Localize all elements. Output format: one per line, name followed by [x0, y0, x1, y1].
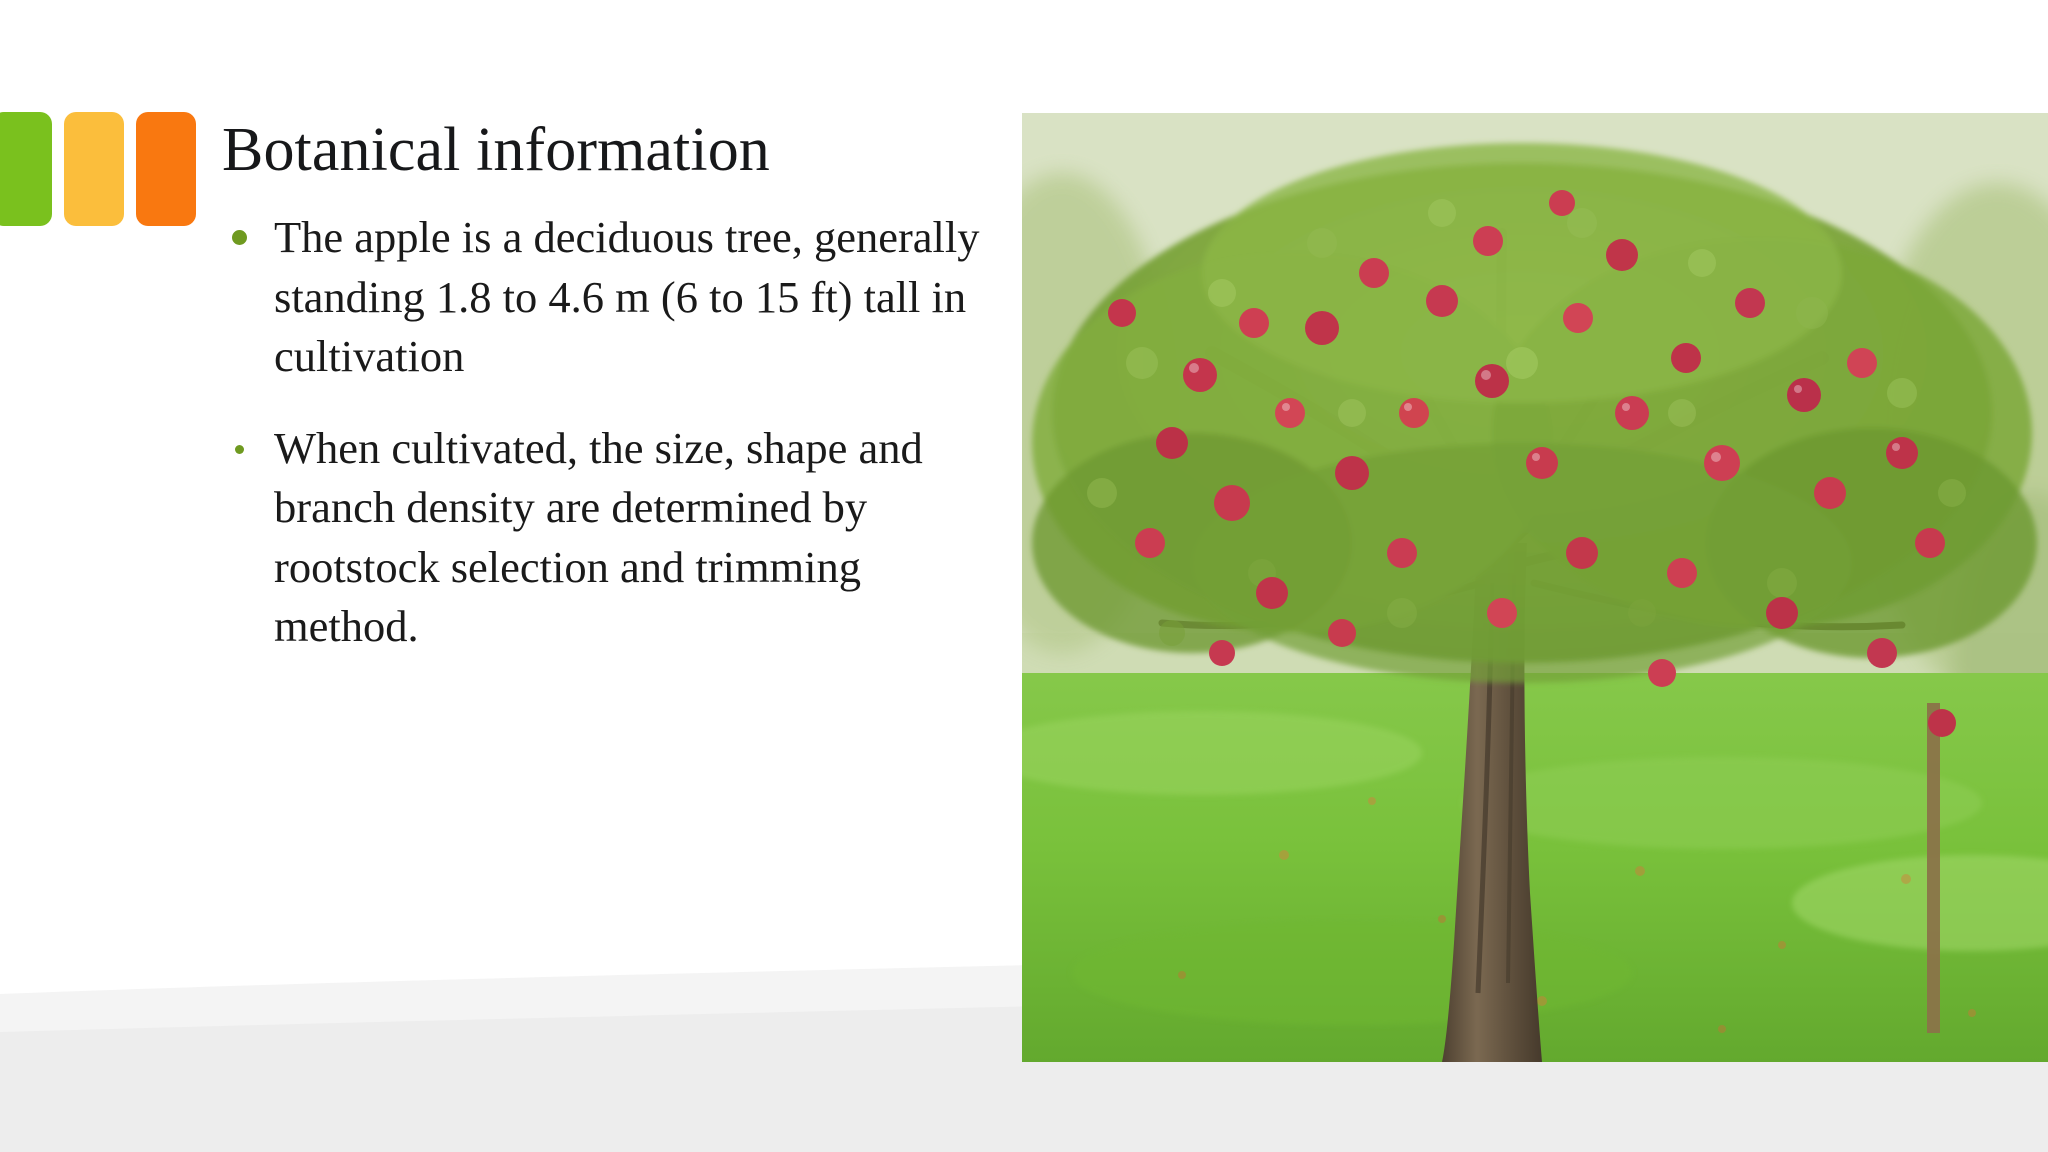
- bullet-dot-icon: [235, 445, 244, 454]
- slide-title: Botanical information: [222, 118, 1012, 182]
- bullet-text-2: When cultivated, the size, shape and bra…: [274, 419, 1012, 657]
- slide-text-column: Botanical information The apple is a dec…: [222, 118, 1012, 656]
- bullet-dot-icon: [232, 230, 247, 245]
- bullet-list: The apple is a deciduous tree, generally…: [222, 208, 1012, 656]
- orange-block: [136, 112, 196, 226]
- apple-tree-photo: [1022, 113, 2048, 1062]
- amber-block: [64, 112, 124, 226]
- bullet-item-2: When cultivated, the size, shape and bra…: [222, 419, 1012, 657]
- green-block: [0, 112, 52, 226]
- bullet-item-1: The apple is a deciduous tree, generally…: [222, 208, 1012, 386]
- decorative-color-blocks: [0, 112, 196, 226]
- presentation-slide: Botanical information The apple is a dec…: [0, 0, 2048, 1152]
- bullet-text-1: The apple is a deciduous tree, generally…: [274, 208, 1012, 386]
